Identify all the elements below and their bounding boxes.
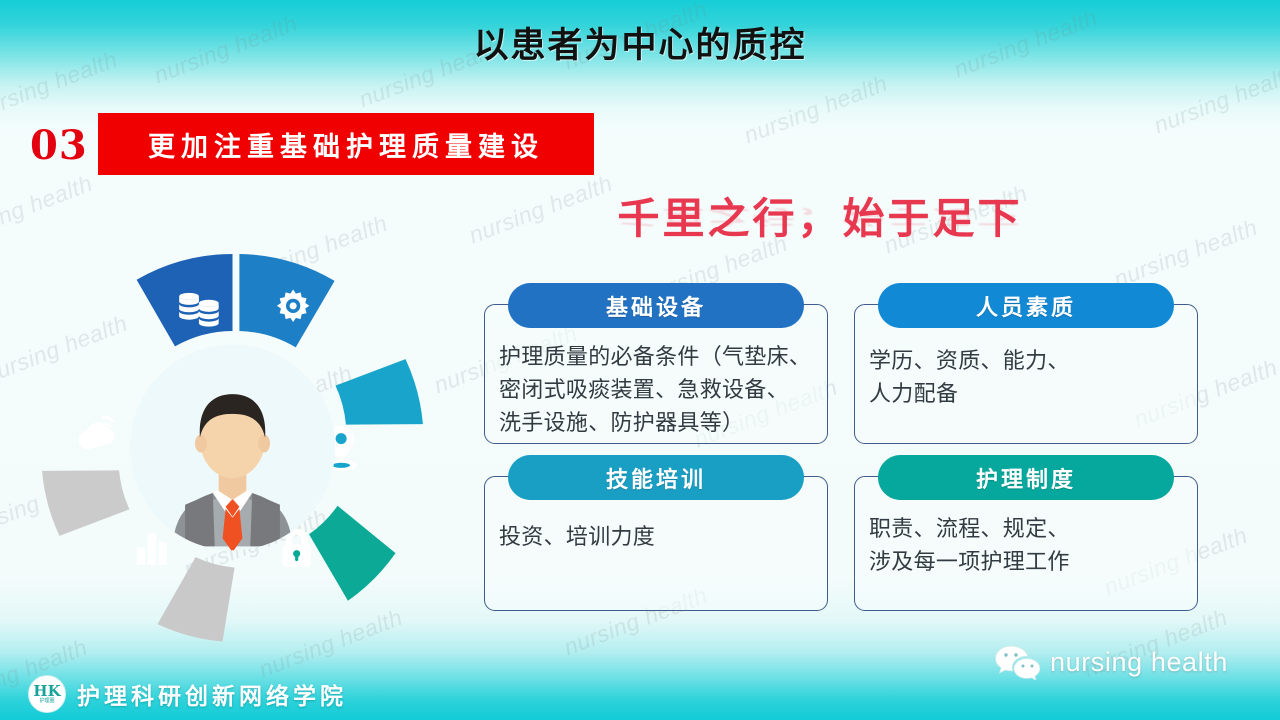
card-equipment-heading: 基础设备 [508,283,804,328]
wheel-segment-chart [137,533,264,645]
watermark-text: nursing health [1150,60,1280,139]
logo-initials: HK [33,685,60,698]
wechat-account-name: nursing health [1050,647,1228,678]
card-line: 密闭式吸痰装置、急救设备、 [499,374,817,407]
slogan-text: 千里之行，始于足下 [610,185,1030,246]
section-banner: 更加注重基础护理质量建设 [98,113,594,175]
card-system[interactable]: 护理制度 职责、流程、规定、 涉及每一项护理工作 [854,476,1198,611]
watermark-text: nursing health [465,170,616,249]
wechat-brand: nursing health [994,644,1228,680]
card-equipment[interactable]: 基础设备 护理质量的必备条件（气垫床、 密闭式吸痰装置、急救设备、 洗手设施、防… [484,304,828,444]
section-number: 03 [30,122,88,169]
wheel-segment-cloud [35,417,144,560]
card-system-heading: 护理制度 [878,455,1174,500]
section-banner-label: 更加注重基础护理质量建设 [148,125,544,164]
wheel-segment-coins [137,254,233,346]
card-personnel-heading: 人员素质 [878,283,1174,328]
logo-subtext: 护理圈 [39,698,54,704]
card-training-heading: 技能培训 [508,455,804,500]
slide-canvas: nursing health nursing health nursing he… [0,0,1280,720]
watermark-text: nursing health [0,170,96,249]
watermark-text: nursing health [1110,214,1261,293]
watermark-text: nursing health [740,70,891,149]
card-line: 投资、培训力度 [499,521,817,554]
card-training[interactable]: 技能培训 投资、培训力度 [484,476,828,611]
card-personnel-body: 学历、资质、能力、 人力配备 [869,345,1187,411]
card-line: 洗手设施、防护器具等） [499,407,817,440]
footer-brand: HK 护理圈 护理科研创新网络学院 [28,675,347,713]
academy-logo-icon: HK 护理圈 [28,675,66,713]
page-title: 以患者为中心的质控 [0,17,1280,68]
capability-wheel [35,250,430,645]
card-personnel[interactable]: 人员素质 学历、资质、能力、 人力配备 [854,304,1198,444]
wheel-center-avatar [130,345,335,552]
card-line: 职责、流程、规定、 [869,513,1187,546]
card-system-body: 职责、流程、规定、 涉及每一项护理工作 [869,513,1187,579]
card-equipment-body: 护理质量的必备条件（气垫床、 密闭式吸痰装置、急救设备、 洗手设施、防护器具等） [499,341,817,440]
wheel-segment-gear [239,254,334,347]
card-line: 涉及每一项护理工作 [869,546,1187,579]
card-line: 学历、资质、能力、 [869,345,1187,378]
cloud-wifi-icon [79,417,115,450]
wechat-icon [994,644,1040,680]
card-training-body: 投资、培训力度 [499,521,817,554]
card-line: 人力配备 [869,378,1187,411]
bar-chart-icon [137,533,167,565]
wheel-segment-location [321,335,430,470]
academy-name: 护理科研创新网络学院 [77,677,347,711]
card-line: 护理质量的必备条件（气垫床、 [499,341,817,374]
